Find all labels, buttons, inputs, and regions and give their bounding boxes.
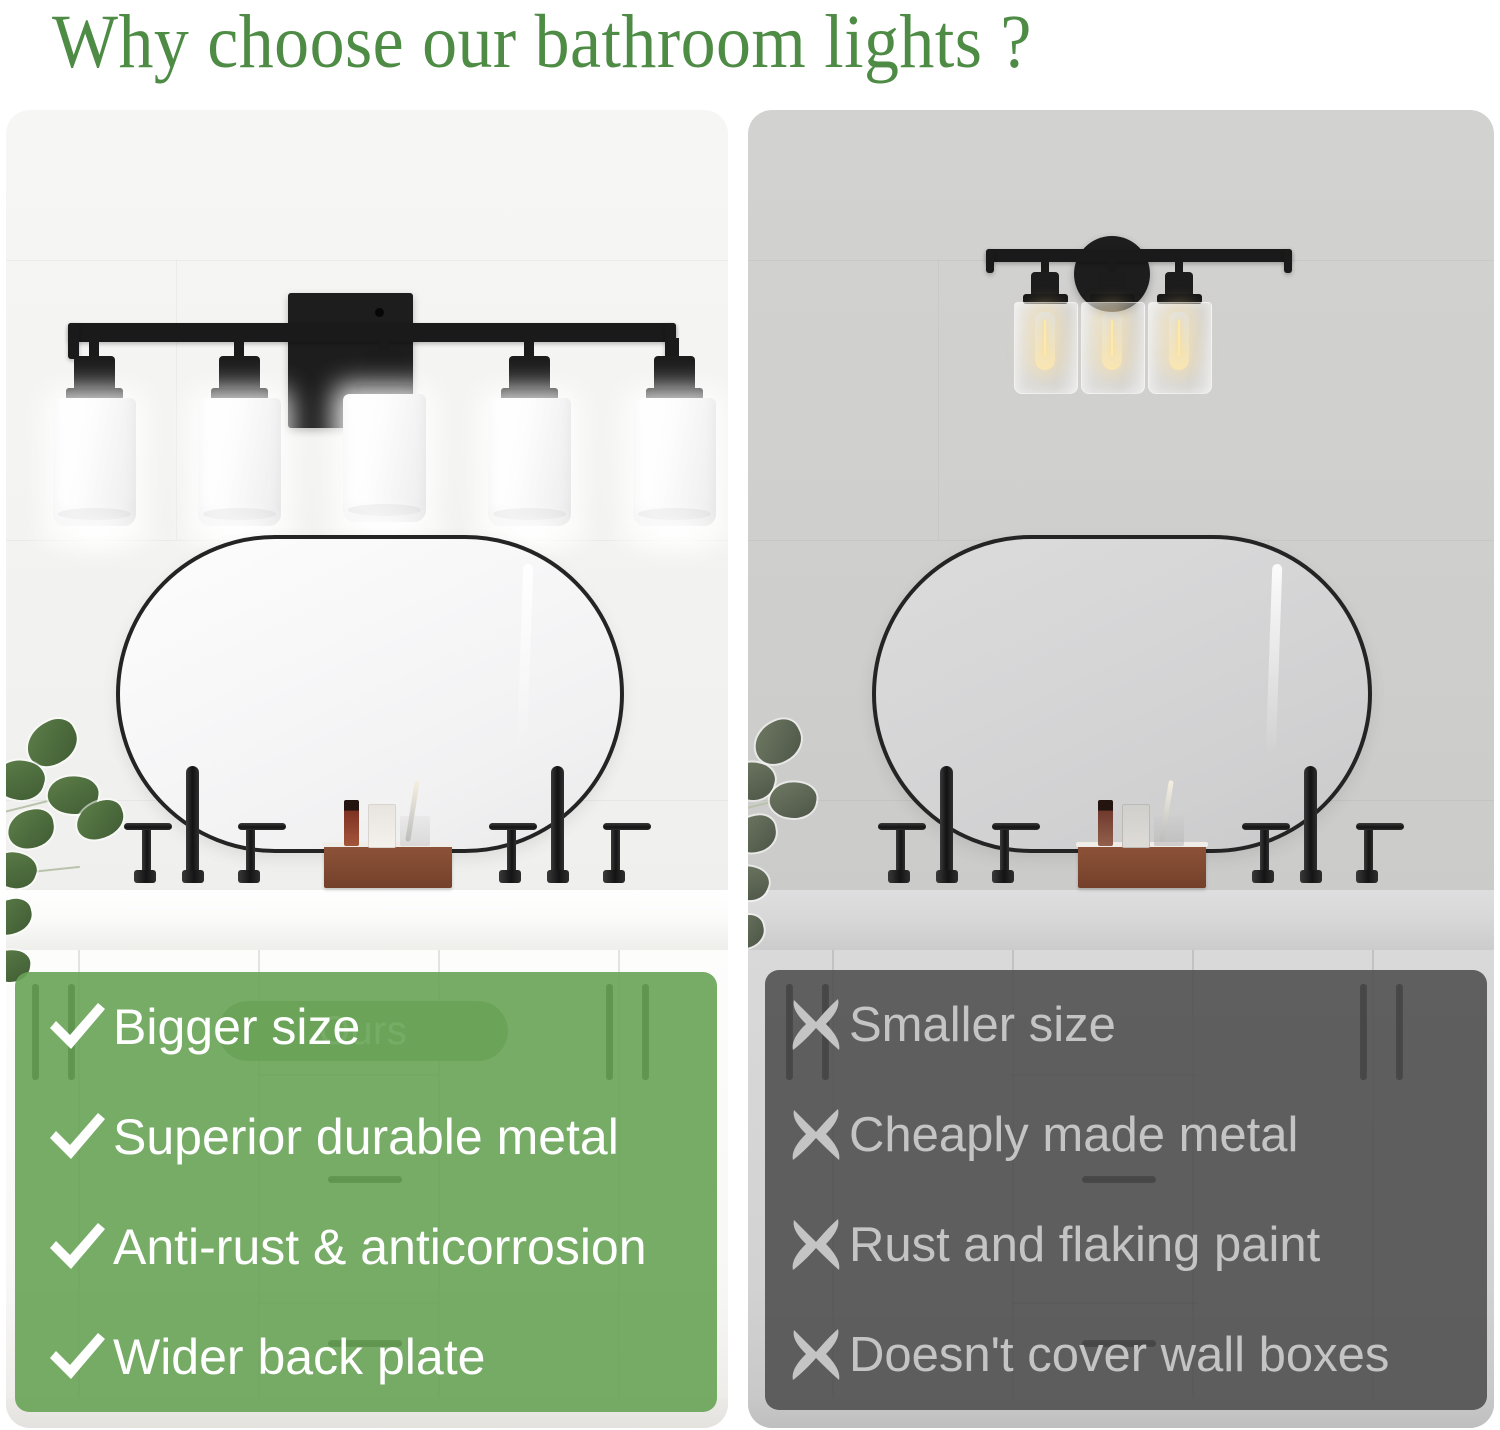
mirror-glint <box>1266 564 1283 756</box>
dropper-bottle <box>1098 800 1113 846</box>
feature-label: Smaller size <box>849 1001 1116 1050</box>
feature-label: Anti-rust & anticorrosion <box>113 1222 647 1272</box>
countertop-others <box>748 890 1494 952</box>
feature-row: Bigger size <box>15 972 717 1082</box>
check-icon <box>41 1001 113 1053</box>
cross-icon <box>783 998 849 1052</box>
check-icon <box>41 1331 113 1383</box>
feature-label: Doesn't cover wall boxes <box>849 1331 1389 1380</box>
feature-row: Smaller size <box>765 970 1487 1080</box>
comparison-panel-ours: Ours Bigger size Superior durable metal <box>6 110 728 1428</box>
cup <box>400 816 430 846</box>
feature-label: Bigger size <box>113 1002 360 1052</box>
fixture-crossbar-end-left <box>986 249 994 273</box>
countertop-ours <box>6 890 728 952</box>
feature-label: Rust and flaking paint <box>849 1221 1320 1270</box>
feature-label: Cheaply made metal <box>849 1111 1298 1160</box>
perfume-bottle <box>368 804 396 848</box>
check-icon <box>41 1111 113 1163</box>
fixture-crossbar-end-right <box>1284 249 1292 273</box>
feature-row: Superior durable metal <box>15 1082 717 1192</box>
perfume-bottle <box>1122 804 1150 848</box>
feature-row: Wider back plate <box>15 1302 717 1412</box>
backplate-screw <box>375 308 384 317</box>
cup <box>1154 816 1184 846</box>
cross-icon <box>783 1108 849 1162</box>
fixture-crossbar-end-left <box>68 323 79 359</box>
cross-icon <box>783 1218 849 1272</box>
fixture-crossbar <box>986 249 1292 262</box>
feature-row: Cheaply made metal <box>765 1080 1487 1190</box>
mirror-glint <box>517 564 534 756</box>
feature-label: Superior durable metal <box>113 1112 619 1162</box>
feature-row: Rust and flaking paint <box>765 1190 1487 1300</box>
bathroom-scene-others: Others Smaller size Cheaply made metal <box>748 110 1494 1428</box>
feature-row: Doesn't cover wall boxes <box>765 1300 1487 1410</box>
dropper-bottle <box>344 800 359 846</box>
cross-icon <box>783 1328 849 1382</box>
bathroom-scene-ours: Ours Bigger size Superior durable metal <box>6 110 728 1428</box>
feature-label: Wider back plate <box>113 1332 485 1382</box>
features-panel-others: Smaller size Cheaply made metal Rust and… <box>765 970 1487 1410</box>
comparison-panel-others: Others Smaller size Cheaply made metal <box>748 110 1494 1428</box>
features-panel-ours: Bigger size Superior durable metal Anti-… <box>15 972 717 1412</box>
fixture-crossbar <box>68 323 676 342</box>
page-title: Why choose our bathroom lights ? <box>52 0 1340 88</box>
feature-row: Anti-rust & anticorrosion <box>15 1192 717 1302</box>
check-icon <box>41 1221 113 1273</box>
